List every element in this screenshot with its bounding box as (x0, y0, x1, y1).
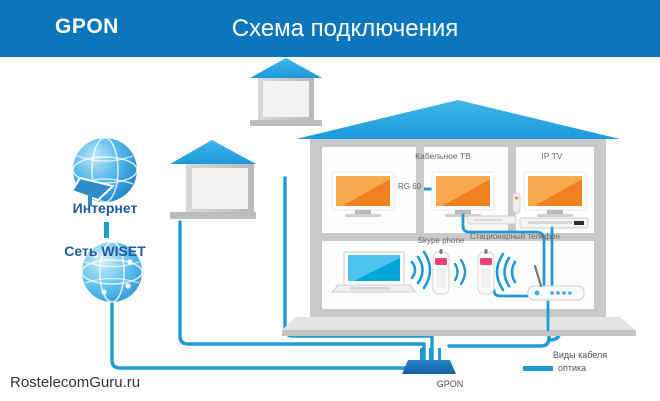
legend-label-optika: оптика (558, 363, 586, 373)
diagram-canvas: GPON Схема подключения (0, 0, 660, 401)
skype-phone-label: Skype phone (408, 236, 474, 245)
legend-title: Виды кабеля (520, 350, 640, 360)
ip-tv-label: IP TV (512, 151, 592, 161)
internet-label: Интернет (0, 200, 210, 216)
gpon-box-label: GPON (395, 379, 505, 389)
laptop-icon (332, 252, 416, 292)
rg60-label: RG 60 (398, 182, 421, 191)
divider-tick (104, 222, 109, 238)
building-top (250, 58, 322, 126)
phone-skype (433, 249, 449, 294)
landline-phone-label: Стационарный телефон (470, 232, 540, 241)
tv-cable (432, 172, 494, 217)
wiset-label: Сеть WISET (0, 243, 210, 259)
gpon-box[interactable] (402, 348, 456, 374)
tv-left (332, 172, 394, 217)
legend-swatch-optika (523, 366, 553, 371)
set-top-box (520, 218, 588, 228)
globe-internet-icon (72, 138, 137, 206)
cable-tv-label: Кабельное ТВ (398, 151, 488, 161)
av-receiver (468, 216, 516, 224)
watermark: RostelecomGuru.ru (10, 374, 140, 391)
phone-landline (478, 249, 494, 294)
